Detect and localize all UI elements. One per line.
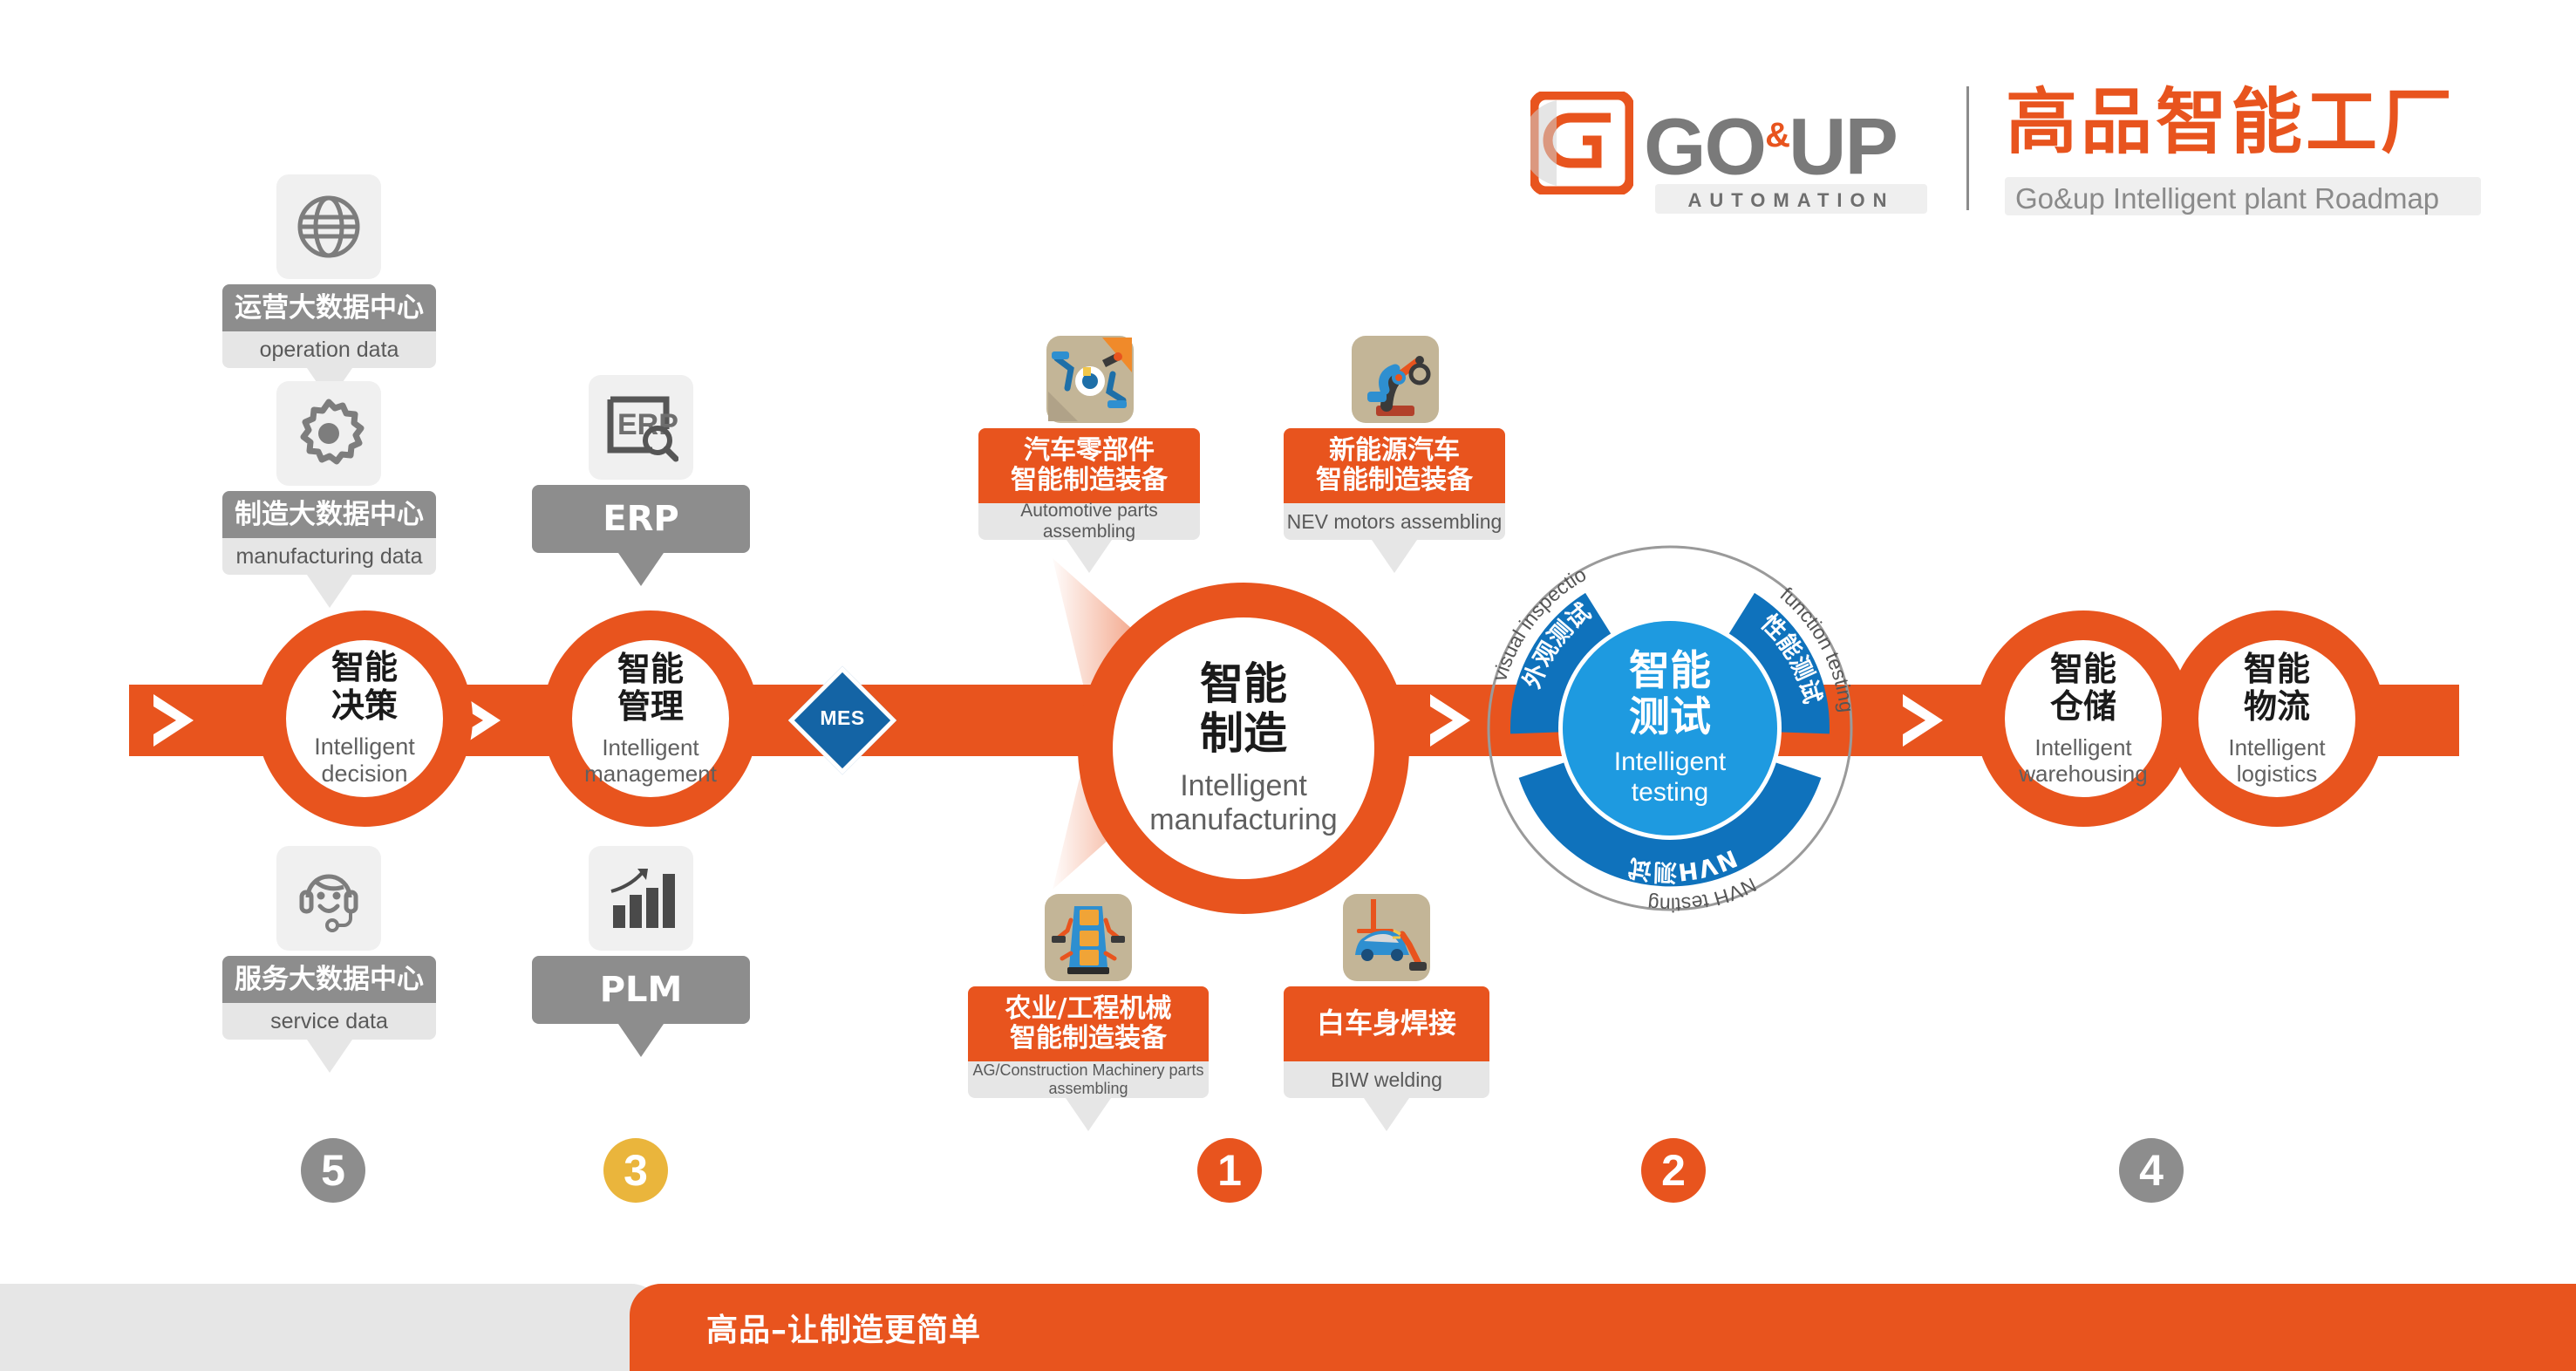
data-center-card-service[interactable]: 服务大数据中心 service data (222, 846, 436, 1064)
chevron-arrow-1-icon (153, 694, 194, 747)
car-welding-icon (1343, 894, 1430, 981)
footer-slogan: 高品–让制造更简单 (706, 1305, 981, 1350)
testing-en-line1: Intelligent (1614, 747, 1726, 776)
testing-en-line2: testing (1632, 778, 1708, 807)
equipment-subtitle: NEV motors assembling (1284, 503, 1505, 540)
page-subtitle-en: Go&up Intelligent plant Roadmap (2015, 182, 2439, 215)
system-title: ERP (532, 485, 750, 553)
gear-icon (276, 381, 381, 486)
stage-circle-intelligent-decision[interactable]: 智能 决策 Intelligent decision (256, 610, 473, 827)
stage-en-line2: logistics (2237, 761, 2317, 787)
erp-screen-search-icon: ERP (589, 375, 693, 480)
stage-cn-line2: 决策 (331, 686, 398, 725)
robot-arms-gear-icon (1046, 336, 1134, 423)
stage-en-line1: Intelligent (2034, 734, 2131, 761)
data-center-title: 运营大数据中心 (222, 284, 436, 331)
intelligent-testing-donut[interactable]: visual inspection function testing NVH t… (1482, 541, 1857, 916)
equipment-title-line2: 智能制造装备 (1316, 466, 1473, 495)
stage-cn-line2: 制造 (1200, 708, 1287, 759)
stage-cn-line1: 智能 (617, 650, 684, 688)
testing-cn-line1: 智能 (1629, 647, 1711, 695)
ampersand-glyph: & (1765, 116, 1789, 154)
stage-circle-intelligent-logistics[interactable]: 智能 物流 Intelligent logistics (2169, 610, 2385, 827)
stage-circle-intelligent-warehousing[interactable]: 智能 仓储 Intelligent warehousing (1975, 610, 2191, 827)
system-card-plm[interactable]: PLM (532, 846, 750, 1055)
data-center-title: 制造大数据中心 (222, 491, 436, 538)
mes-label: MES (804, 706, 881, 730)
stage-en-line1: Intelligent (602, 734, 699, 761)
step-badge-3[interactable]: 3 (603, 1138, 668, 1203)
stage-cn-line1: 智能 (1200, 658, 1287, 709)
brand-wordmark: GO&UP (1644, 95, 1897, 188)
equipment-title: 汽车零部件 智能制造装备 (978, 428, 1200, 503)
stage-en-line2: decision (321, 761, 407, 787)
donut-center-label: 智能 测试 Intelligent testing (1563, 621, 1777, 836)
headset-support-icon (276, 846, 381, 951)
callout-tail (1372, 540, 1417, 573)
callout-tail (618, 1024, 664, 1057)
equipment-title: 农业/工程机械 智能制造装备 (968, 986, 1209, 1061)
testing-cn-line2: 测试 (1629, 693, 1711, 741)
equipment-title-line2: 智能制造装备 (1011, 466, 1168, 495)
equipment-title-line1: 新能源汽车 (1329, 436, 1460, 466)
stage-cn-line1: 智能 (2244, 650, 2310, 688)
equipment-card-biw-welding[interactable]: 白车身焊接 BIW welding (1284, 894, 1489, 1129)
stage-cn-line2: 物流 (2244, 687, 2310, 726)
equipment-card-nev-motors[interactable]: 新能源汽车 智能制造装备 NEV motors assembling (1284, 336, 1505, 571)
automation-tagline: AUTOMATION (1655, 189, 1927, 212)
stage-en-line2: management (584, 761, 717, 787)
callout-tail (307, 1040, 352, 1073)
callout-tail (1067, 540, 1112, 573)
callout-tail (1066, 1098, 1111, 1131)
stage-cn-line2: 仓储 (2050, 687, 2116, 726)
equipment-title-line1: 农业/工程机械 (1005, 994, 1172, 1024)
equipment-subtitle: Automotive parts assembling (978, 503, 1200, 540)
chevron-arrow-3-icon (1430, 694, 1470, 747)
step-badge-2[interactable]: 2 (1641, 1138, 1706, 1203)
footer-left-panel (0, 1284, 663, 1371)
data-center-subtitle: service data (222, 1003, 436, 1040)
step-badge-4[interactable]: 4 (2119, 1138, 2184, 1203)
equipment-title-line1: 汽车零部件 (1024, 436, 1155, 466)
automation-tagline-bg: AUTOMATION (1655, 184, 1927, 214)
globe-icon (276, 174, 381, 279)
step-badge-5[interactable]: 5 (301, 1138, 365, 1203)
bar-chart-growth-icon (589, 846, 693, 951)
stage-en-line2: warehousing (2019, 761, 2147, 787)
page-title-cn: 高品智能工厂 (2006, 83, 2456, 163)
data-center-card-operation[interactable]: 运营大数据中心 operation data (222, 174, 436, 392)
assembly-line-icon (1045, 894, 1132, 981)
stage-en-line1: Intelligent (2228, 734, 2325, 761)
equipment-card-ag-construction[interactable]: 农业/工程机械 智能制造装备 AG/Construction Machinery… (968, 894, 1209, 1129)
system-card-erp[interactable]: ERP ERP (532, 375, 750, 584)
equipment-subtitle: BIW welding (1284, 1061, 1489, 1098)
stage-en-line1: Intelligent (314, 733, 415, 760)
equipment-title-line2: 智能制造装备 (1010, 1024, 1167, 1054)
header-divider (1966, 86, 1969, 210)
chevron-arrow-4-icon (1903, 694, 1943, 747)
data-center-subtitle: operation data (222, 331, 436, 368)
infographic-canvas: GO&UP AUTOMATION 高品智能工厂 Go&up Intelligen… (0, 0, 2576, 1371)
data-center-card-manufacturing[interactable]: 制造大数据中心 manufacturing data (222, 381, 436, 599)
callout-tail (1364, 1098, 1409, 1131)
goup-logo-icon (1530, 92, 1633, 194)
stage-cn-line2: 管理 (617, 687, 684, 726)
equipment-title-line1: 白车身焊接 (1317, 1008, 1456, 1040)
stage-circle-intelligent-management[interactable]: 智能 管理 Intelligent management (542, 610, 759, 827)
stage-cn-line1: 智能 (2050, 650, 2116, 688)
data-center-subtitle: manufacturing data (222, 538, 436, 575)
robot-arm-icon (1352, 336, 1439, 423)
callout-tail (618, 553, 664, 586)
step-badge-1[interactable]: 1 (1197, 1138, 1262, 1203)
stage-en-line1: Intelligent (1180, 769, 1307, 802)
system-title: PLM (532, 956, 750, 1024)
callout-tail (307, 575, 352, 608)
equipment-title: 新能源汽车 智能制造装备 (1284, 428, 1505, 503)
equipment-subtitle: AG/Construction Machinery parts assembli… (968, 1061, 1209, 1098)
brand-header: GO&UP AUTOMATION 高品智能工厂 Go&up Intelligen… (1530, 83, 2481, 218)
data-center-title: 服务大数据中心 (222, 956, 436, 1003)
stage-circle-intelligent-manufacturing[interactable]: 智能 制造 Intelligent manufacturing (1078, 583, 1409, 914)
equipment-card-automotive-parts[interactable]: 汽车零部件 智能制造装备 Automotive parts assembling (978, 336, 1200, 571)
stage-cn-line1: 智能 (331, 648, 398, 686)
equipment-title: 白车身焊接 (1284, 986, 1489, 1061)
stage-en-line2: manufacturing (1149, 803, 1337, 836)
